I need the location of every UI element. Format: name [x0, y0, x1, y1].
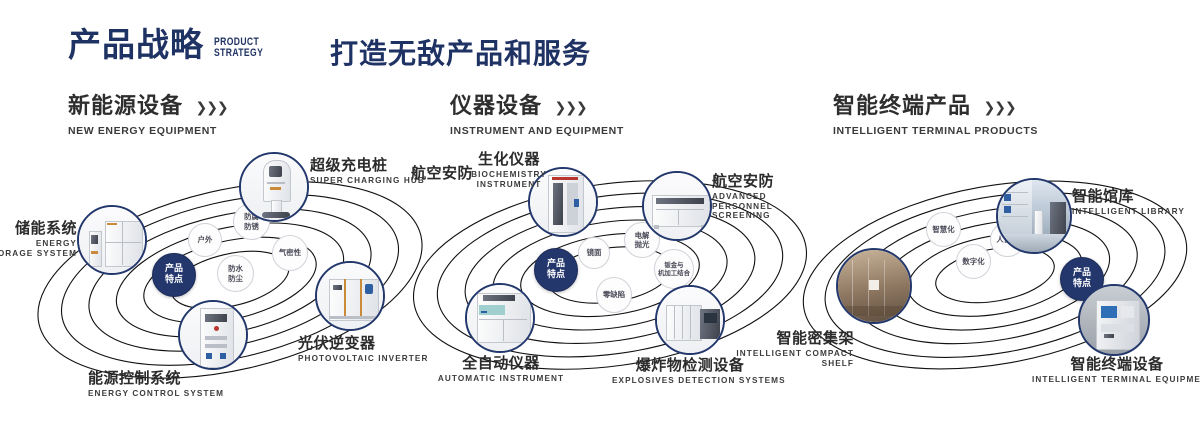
label-photovoltaic-inverter: 光伏逆变器 PHOTOVOLTAIC INVERTER	[298, 335, 428, 364]
label-energy-storage-system: 储能系统 ENERGY STORAGE SYSTEM	[0, 220, 77, 258]
node-energy-control-system[interactable]	[178, 300, 248, 370]
center-bubble-product-features[interactable]: 产品 特点	[152, 253, 196, 297]
feature-bubble-outdoor[interactable]: 户外	[188, 223, 222, 257]
automatic-instrument-photo	[467, 285, 533, 351]
page-title-cn: 产品战略	[68, 28, 204, 61]
node-photovoltaic-inverter[interactable]	[315, 261, 385, 331]
intelligent-library-photo	[998, 180, 1070, 252]
node-intelligent-library[interactable]	[996, 178, 1072, 254]
feature-bubble-airtightness[interactable]: 气密性	[272, 235, 308, 271]
compact-shelf-photo	[838, 250, 910, 322]
section-title-cn: 新能源设备	[68, 96, 183, 118]
feature-bubble-waterproof[interactable]: 防水 防尘	[217, 255, 254, 292]
page-title-en-line2: STRATEGY	[214, 48, 263, 59]
energy-control-photo	[180, 302, 246, 368]
label-intelligent-compact-shelf: 智能密集架 INTELLIGENT COMPACT SHELF	[728, 330, 854, 368]
section-title-cn: 智能终端产品	[833, 96, 971, 118]
section-heading-instrument: 仪器设备 ❯❯❯ INSTRUMENT AND EQUIPMENT	[450, 96, 624, 137]
feature-bubble-zero-defect[interactable]: 零缺陷	[596, 277, 632, 313]
node-automatic-instrument[interactable]	[465, 283, 535, 353]
chevron-right-icon: ❯❯❯	[983, 99, 1015, 116]
charging-hub-photo	[241, 154, 307, 220]
explosives-detection-photo	[657, 287, 723, 353]
feature-bubble-mirror-finish[interactable]: 镜面	[578, 237, 610, 269]
label-intelligent-terminal-equipment: 智能终端设备 INTELLIGENT TERMINAL EQUIPMENT	[1032, 356, 1200, 385]
section-heading-intelligent-terminal: 智能终端产品 ❯❯❯ INTELLIGENT TERMINAL PRODUCTS	[833, 96, 1038, 137]
section-heading-new-energy: 新能源设备 ❯❯❯ NEW ENERGY EQUIPMENT	[68, 96, 228, 137]
page-slogan: 打造无敌产品和服务	[330, 32, 591, 72]
cluster-new-energy: 产品 特点 户外 防腐 防锈 防水 防尘 气密性	[30, 155, 430, 405]
page-title-en: PRODUCT STRATEGY	[214, 37, 263, 59]
section-title-cn: 仪器设备	[450, 96, 542, 118]
screening-machine-photo	[644, 173, 710, 239]
node-intelligent-terminal-equipment[interactable]	[1078, 284, 1150, 356]
node-energy-storage-system[interactable]	[77, 205, 147, 275]
label-intelligent-library: 智能馆库 INTELLIGENT LIBRARY	[1072, 188, 1185, 217]
page-title: 产品战略 PRODUCT STRATEGY	[68, 28, 277, 61]
label-biochemistry-instrument: 生化仪器 BIOCHEMISTRY INSTRUMENT	[450, 151, 568, 189]
terminal-equipment-photo	[1080, 286, 1148, 354]
inverter-photo	[317, 263, 383, 329]
node-explosives-detection-systems[interactable]	[655, 285, 725, 355]
node-advanced-personnel-screening[interactable]	[642, 171, 712, 241]
feature-bubble-smart[interactable]: 智慧化	[926, 212, 961, 247]
product-strategy-infographic: 产品战略 PRODUCT STRATEGY 打造无敌产品和服务 新能源设备 ❯❯…	[0, 0, 1200, 422]
energy-storage-photo	[79, 207, 145, 273]
center-bubble-product-features[interactable]: 产品 特点	[534, 248, 578, 292]
chevron-right-icon: ❯❯❯	[554, 99, 586, 116]
cluster-intelligent-terminal: 产品 特点 智慧化 人性化 数字化 智	[800, 160, 1200, 410]
feature-bubble-sheetmetal-machining[interactable]: 钣金与 机加工结合	[654, 249, 694, 289]
feature-bubble-digital[interactable]: 数字化	[956, 244, 991, 279]
node-intelligent-compact-shelf[interactable]	[836, 248, 912, 324]
chevron-right-icon: ❯❯❯	[195, 99, 227, 116]
label-energy-control-system: 能源控制系统 ENERGY CONTROL SYSTEM	[88, 370, 224, 399]
node-super-charging-hub[interactable]	[239, 152, 309, 222]
section-title-en: NEW ENERGY EQUIPMENT	[68, 125, 228, 137]
section-title-en: INTELLIGENT TERMINAL PRODUCTS	[833, 125, 1038, 137]
section-title-en: INSTRUMENT AND EQUIPMENT	[450, 125, 624, 137]
label-automatic-instrument: 全自动仪器 AUTOMATIC INSTRUMENT	[426, 355, 576, 384]
